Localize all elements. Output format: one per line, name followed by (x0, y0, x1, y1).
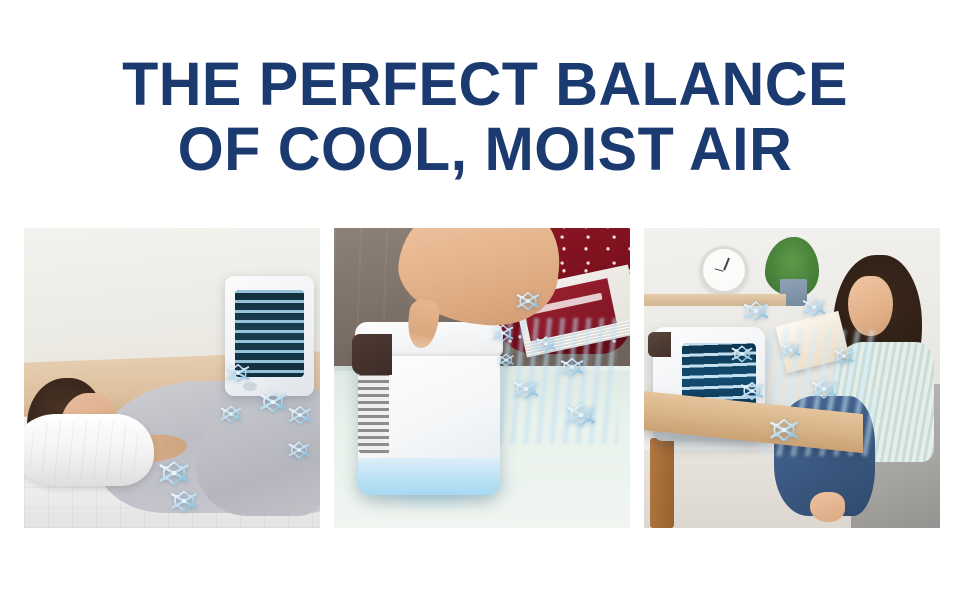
cooler-base-glow (358, 458, 500, 495)
page-title: THE PERFECT BALANCE OF COOL, MOIST AIR (15, 52, 956, 182)
bedroom-scene (24, 228, 320, 528)
product-banner: THE PERFECT BALANCE OF COOL, MOIST AIR (0, 0, 970, 600)
panel-reading (644, 228, 940, 528)
air-cooler-device (225, 276, 314, 396)
reading-woman-face (848, 276, 892, 336)
cooler-vent-grille (235, 290, 304, 376)
headline-line-1: THE PERFECT BALANCE (15, 52, 956, 117)
cooler-knob (243, 382, 257, 392)
reading-scene (644, 228, 940, 528)
cooler-brown-trim (352, 334, 392, 375)
table-leg (650, 438, 674, 528)
sleeping-woman-legs (196, 408, 320, 516)
panel-tabletop (334, 228, 630, 528)
cooler-vent-grille (358, 373, 389, 454)
panel-row (24, 228, 946, 528)
panel-bedroom (24, 228, 320, 528)
bare-foot (810, 492, 846, 522)
air-cooler-device (358, 339, 500, 495)
bed-pillow (24, 414, 154, 486)
wall-shelf (644, 294, 786, 306)
headline-line-2: OF COOL, MOIST AIR (15, 117, 956, 182)
wall-clock-icon (700, 246, 747, 294)
tabletop-scene (334, 228, 630, 528)
cooler-side-trim (648, 332, 670, 357)
